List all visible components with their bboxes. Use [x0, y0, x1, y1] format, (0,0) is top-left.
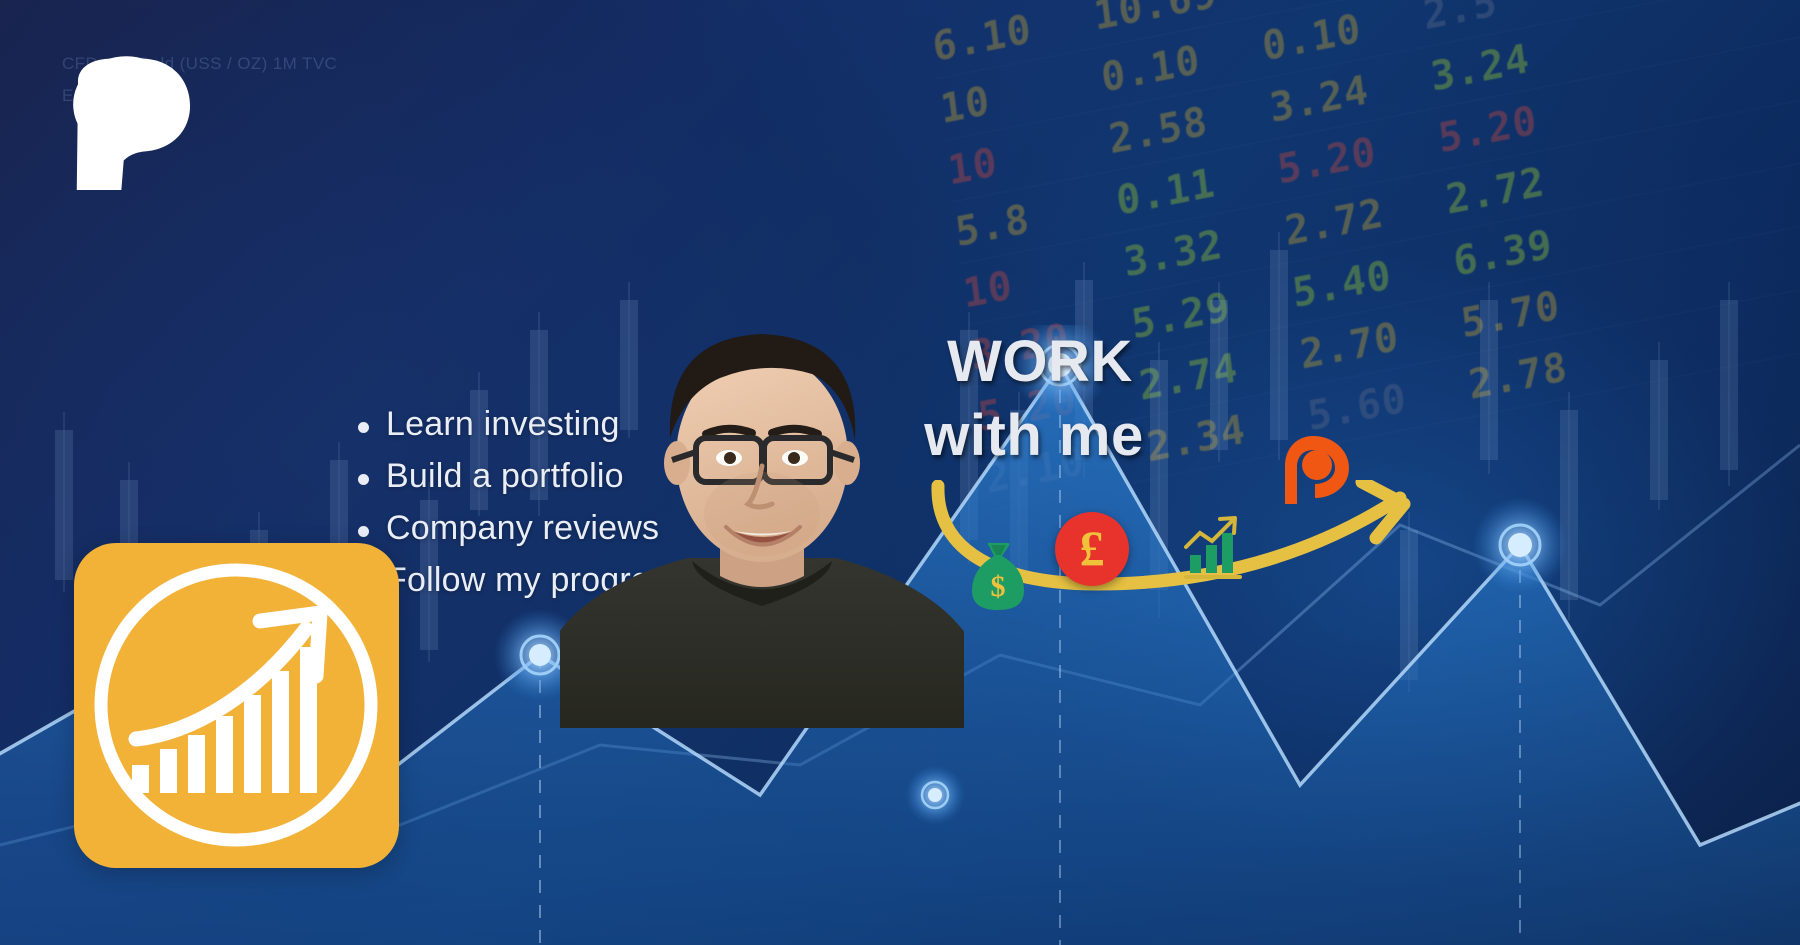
growth-chart-glyph — [74, 543, 399, 868]
icon-bar — [188, 735, 205, 793]
headline: WORK with me — [905, 325, 1175, 473]
icon-bar — [272, 671, 289, 793]
svg-text:$: $ — [991, 570, 1006, 603]
icon-bar — [132, 765, 149, 793]
money-bag-emoji: $ — [965, 540, 1031, 612]
pound-coin-emoji: £ — [1055, 512, 1129, 586]
icon-bar — [216, 716, 233, 793]
patreon-banner: 6.10 10.69 2.58 2.5 10 0.10 0.10 2.5 10 … — [0, 0, 1800, 945]
bullet-dot-icon — [358, 422, 369, 433]
icon-bar — [244, 695, 261, 793]
bullet-dot-icon — [358, 526, 369, 537]
headline-line-1: WORK — [905, 325, 1175, 399]
headline-line-2: with me — [893, 399, 1175, 473]
bar-chart-up-emoji — [1180, 515, 1250, 583]
patreon-orange-logo[interactable] — [1283, 432, 1355, 506]
chart-node — [1472, 497, 1568, 593]
patreon-logo[interactable] — [70, 55, 192, 190]
icon-bar — [160, 749, 177, 793]
pound-symbol: £ — [1080, 523, 1105, 573]
bullet-dot-icon — [358, 474, 369, 485]
chart-node — [905, 765, 965, 825]
creator-portrait — [560, 318, 964, 728]
portrait-photo — [560, 334, 964, 728]
growth-chart-app-icon[interactable] — [74, 543, 399, 868]
